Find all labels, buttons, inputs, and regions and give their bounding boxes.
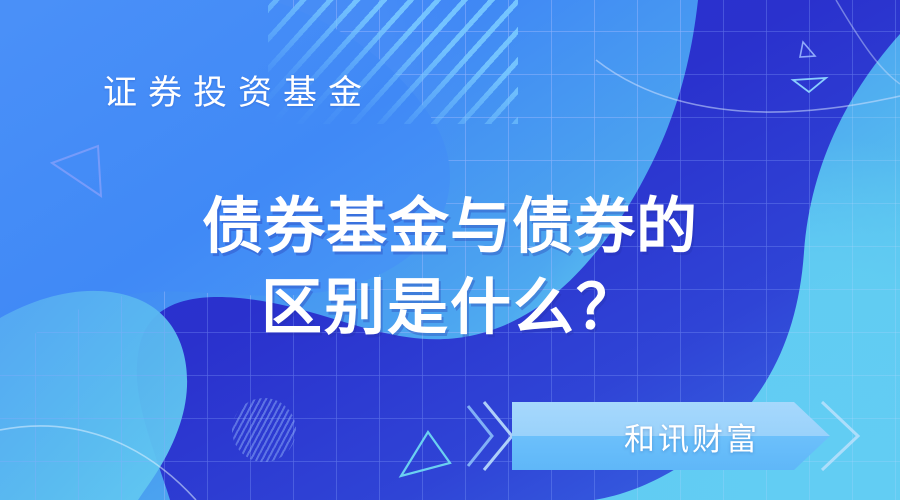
poster-subtitle: 证券投资基金 <box>103 76 373 110</box>
brand-ribbon[interactable]: 和讯财富 <box>466 392 900 480</box>
brand-ribbon-label: 和讯财富 <box>466 392 900 480</box>
striped-circle-decoration <box>232 398 296 462</box>
headline-line-1: 债券基金与债券的 <box>0 186 900 267</box>
headline-line-2: 区别是什么？ <box>0 267 900 348</box>
poster-canvas: 证券投资基金 债券基金与债券的 区别是什么？ <box>0 0 900 500</box>
poster-headline: 债券基金与债券的 区别是什么？ <box>0 186 900 347</box>
